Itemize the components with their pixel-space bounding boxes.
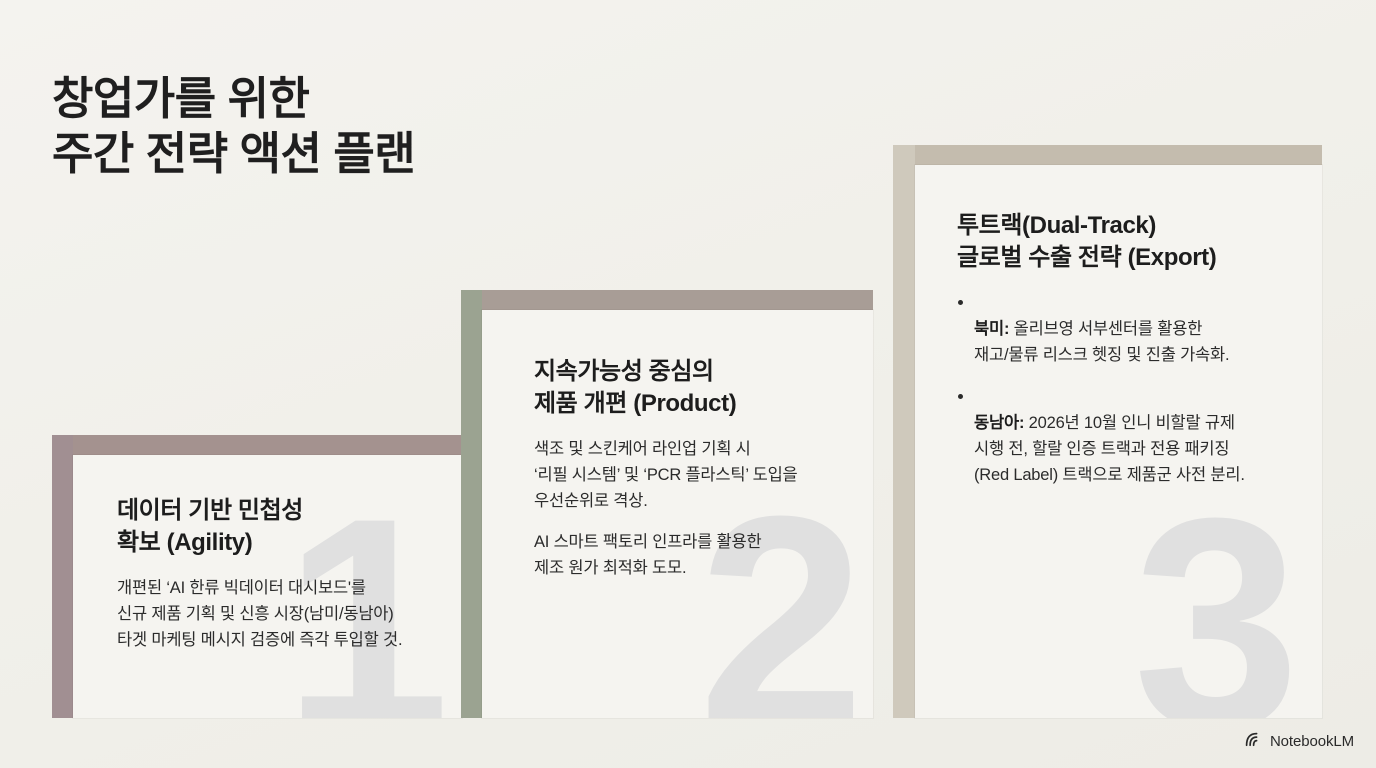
step-card-2: 2 지속가능성 중심의 제품 개편 (Product) 색조 및 스킨케어 라인… (461, 290, 873, 718)
notebooklm-branding: NotebookLM (1245, 731, 1354, 752)
step-heading-2: 지속가능성 중심의 제품 개편 (Product) (534, 356, 859, 420)
bullet-dot-icon (958, 300, 963, 305)
step-accent-top-1 (52, 435, 462, 455)
bullet-dot-icon (958, 394, 963, 399)
step-heading-1: 데이터 기반 민첩성 확보 (Agility) (117, 495, 450, 559)
step-content-3: 투트랙(Dual-Track) 글로벌 수출 전략 (Export) 북미: 올… (957, 210, 1308, 488)
step-accent-left-2 (461, 290, 482, 718)
step-content-1: 데이터 기반 민첩성 확보 (Agility) 개편된 ‘AI 한류 빅데이터 … (117, 495, 450, 654)
step-surface-1: 1 데이터 기반 민첩성 확보 (Agility) 개편된 ‘AI 한류 빅데이… (73, 455, 462, 718)
step-accent-left-3 (893, 145, 915, 718)
step-heading-3: 투트랙(Dual-Track) 글로벌 수출 전략 (Export) (957, 210, 1308, 274)
step-content-2: 지속가능성 중심의 제품 개편 (Product) 색조 및 스킨케어 라인업 … (534, 356, 859, 581)
step-card-1: 1 데이터 기반 민첩성 확보 (Agility) 개편된 ‘AI 한류 빅데이… (52, 435, 462, 718)
step-accent-top-3 (893, 145, 1322, 165)
step-accent-left-1 (52, 435, 73, 718)
notebooklm-logo-icon (1245, 731, 1264, 752)
list-item: 동남아: 2026년 10월 인니 비할랄 규제 시행 전, 할랄 인증 트랙과… (957, 384, 1308, 488)
page-title: 창업가를 위한 주간 전략 액션 플랜 (52, 72, 692, 182)
step-paragraph-2-1: 색조 및 스킨케어 라인업 기획 시 ‘리필 시스템’ 및 ‘PCR 플라스틱’… (534, 436, 859, 514)
list-item: 북미: 올리브영 서부센터를 활용한 재고/물류 리스크 헷징 및 진출 가속화… (957, 290, 1308, 368)
bullet-lead-label: 동남아: (974, 414, 1024, 432)
bullet-text: 올리브영 서부센터를 활용한 재고/물류 리스크 헷징 및 진출 가속화. (974, 320, 1229, 364)
step-paragraph-2-2: AI 스마트 팩토리 인프라를 활용한 제조 원가 최적화 도모. (534, 529, 859, 581)
step-bullet-list-3: 북미: 올리브영 서부센터를 활용한 재고/물류 리스크 헷징 및 진출 가속화… (957, 290, 1308, 487)
step-card-3: 3 투트랙(Dual-Track) 글로벌 수출 전략 (Export) 북미:… (893, 145, 1322, 718)
slide-canvas: 창업가를 위한 주간 전략 액션 플랜 1 데이터 기반 민첩성 확보 (Agi… (0, 0, 1376, 768)
step-accent-top-2 (461, 290, 873, 310)
step-watermark-number-3: 3 (1133, 506, 1294, 718)
step-surface-2: 2 지속가능성 중심의 제품 개편 (Product) 색조 및 스킨케어 라인… (482, 310, 873, 718)
notebooklm-wordmark: NotebookLM (1270, 733, 1354, 750)
step-surface-3: 3 투트랙(Dual-Track) 글로벌 수출 전략 (Export) 북미:… (915, 165, 1322, 718)
step-paragraph-1-1: 개편된 ‘AI 한류 빅데이터 대시보드'를 신규 제품 기획 및 신흥 시장(… (117, 575, 450, 653)
bullet-lead-label: 북미: (974, 320, 1009, 338)
